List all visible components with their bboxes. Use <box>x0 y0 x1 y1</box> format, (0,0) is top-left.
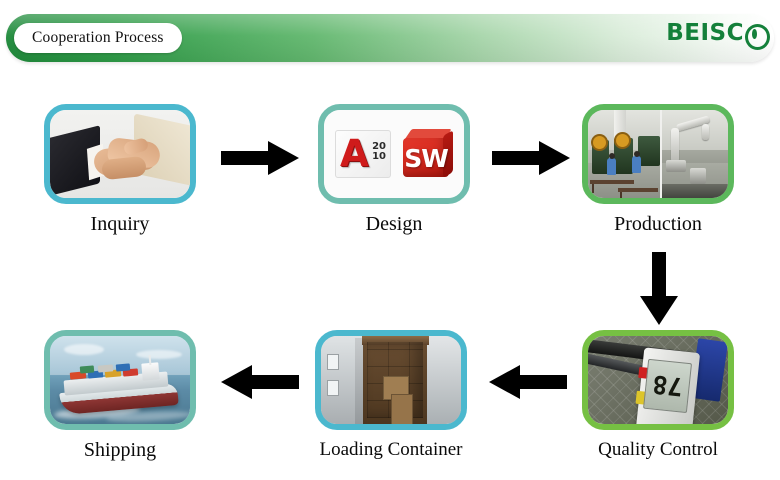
step-card-quality-control[interactable]: 78 Quality Control <box>582 330 763 461</box>
press-machine <box>638 136 660 166</box>
production-thumbnail[interactable] <box>582 104 734 204</box>
arrow-inquiry-to-design-icon <box>221 140 299 176</box>
quality-control-thumbnail[interactable]: 78 <box>582 330 734 430</box>
arrow-loading-container-to-shipping-icon <box>221 364 299 400</box>
autocad-letter: A <box>340 135 369 172</box>
caliper-lcd-screen: 78 <box>643 359 692 413</box>
autocad-year-bottom: 10 <box>372 152 386 162</box>
step-label-production: Production <box>582 213 734 236</box>
step-card-inquiry[interactable]: Inquiry <box>44 104 196 236</box>
cooperation-process-infographic: Cooperation Process BEISC Inquiry <box>0 0 780 480</box>
robot-wrist <box>702 124 709 140</box>
arrow-design-to-production-icon <box>492 140 570 176</box>
shipping-thumbnail[interactable] <box>44 330 196 430</box>
arrow-quality-control-to-loading-container-icon <box>489 364 567 400</box>
step-label-shipping: Shipping <box>44 439 196 462</box>
page-title-pill: Cooperation Process <box>14 23 182 53</box>
brand-logo: BEISC <box>666 22 764 45</box>
machine-flywheel <box>616 134 629 147</box>
building-window <box>327 380 339 396</box>
page-title: Cooperation Process <box>32 29 164 47</box>
container-loading-image <box>321 336 461 424</box>
step-label-design: Design <box>318 213 470 236</box>
machine-flywheel <box>593 136 606 149</box>
autocad-logo-icon: A 20 10 <box>335 130 391 178</box>
loading-container-thumbnail[interactable] <box>315 330 467 430</box>
step-label-inquiry: Inquiry <box>44 213 196 236</box>
carton <box>391 394 413 424</box>
ship-bridge <box>141 362 159 380</box>
step-card-shipping[interactable]: Shipping <box>44 330 196 462</box>
autocad-year: 20 10 <box>372 142 386 162</box>
welding-table <box>662 184 728 198</box>
robot-base <box>666 160 686 172</box>
factory-image <box>588 110 728 198</box>
solidworks-logo-icon: SW <box>403 129 453 179</box>
workpiece-fixture <box>690 168 706 184</box>
design-thumbnail[interactable]: A 20 10 SW <box>318 104 470 204</box>
deck-container <box>116 363 131 371</box>
container-ship-image <box>50 336 190 424</box>
brand-logo-o-icon <box>745 23 764 45</box>
container-wall-right <box>425 336 461 424</box>
step-label-loading-container: Loading Container <box>286 439 496 461</box>
work-bench <box>590 180 634 184</box>
fingers <box>101 156 147 180</box>
factory-worker <box>632 156 641 173</box>
cad-logos-image: A 20 10 SW <box>324 110 464 198</box>
caliper-reading: 78 <box>644 360 691 412</box>
brand-logo-text: BEISC <box>666 22 744 45</box>
deck-container <box>80 365 95 373</box>
solidworks-letters: SW <box>403 139 449 177</box>
building-window <box>327 354 339 370</box>
arrow-production-to-quality-control-icon <box>639 252 679 326</box>
factory-workshop-panel <box>588 110 660 198</box>
cloud <box>64 344 104 355</box>
robot-lower-arm <box>671 128 679 162</box>
deck-container <box>98 364 114 372</box>
cloud <box>136 350 182 359</box>
work-bench <box>618 188 658 192</box>
handshake-image <box>50 110 190 198</box>
robot-cell-panel <box>660 110 728 198</box>
step-card-loading-container[interactable]: Loading Container <box>315 330 496 461</box>
step-card-production[interactable]: Production <box>582 104 734 236</box>
factory-worker <box>607 158 616 175</box>
step-card-design[interactable]: A 20 10 SW Design <box>318 104 470 236</box>
caliper-body: 78 <box>636 347 700 424</box>
inquiry-thumbnail[interactable] <box>44 104 196 204</box>
step-label-quality-control: Quality Control <box>553 439 763 461</box>
caliper-image: 78 <box>588 336 728 424</box>
